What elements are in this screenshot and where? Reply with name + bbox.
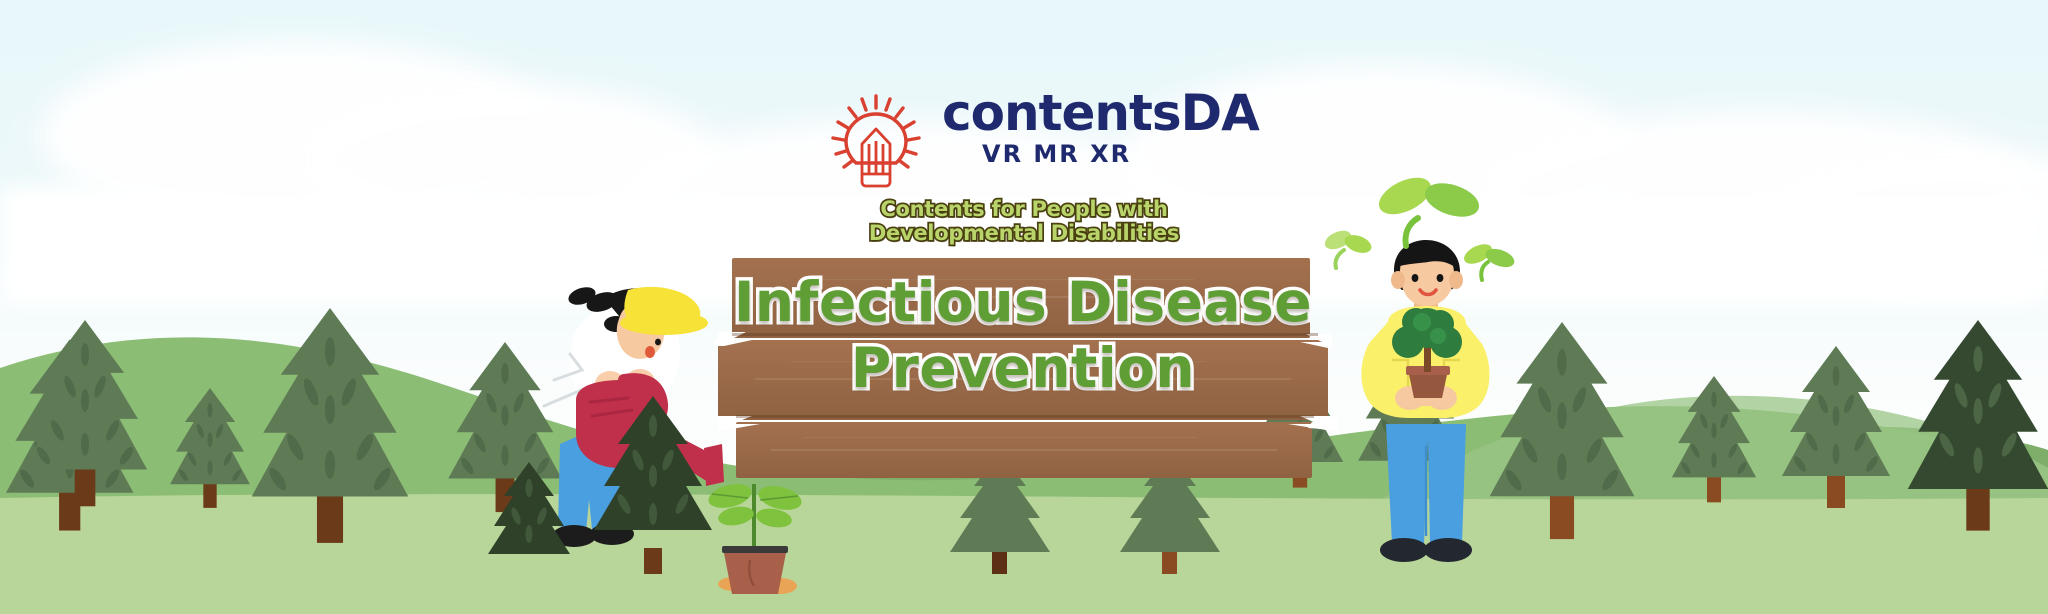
logo-tagline: VR MR XR (982, 140, 1131, 168)
lightbulb-pencil-icon (822, 88, 930, 194)
sign-title-line-2: Prevention (718, 340, 1328, 396)
sprout-large (1373, 170, 1483, 246)
subtitle-line-1: Contents for People with (0, 198, 2048, 222)
sprout-small-left (1322, 227, 1374, 268)
logo-wordmark: contentsDA (942, 84, 1259, 142)
sprout-small-right (1461, 240, 1517, 280)
banner-canvas: Infectious Disease Prevention Contents f… (0, 0, 2048, 614)
wooden-sign: Infectious Disease Prevention (718, 258, 1328, 478)
small-potted-plant (700, 478, 820, 614)
person-with-plant-character (1330, 238, 1520, 578)
subtitle-line-2: Developmental Disabilities (0, 222, 2048, 246)
banner-subtitle: Contents for People with Developmental D… (0, 198, 2048, 245)
sign-title-line-1: Infectious Disease (718, 274, 1328, 330)
floating-sprout-leaves (1300, 138, 1510, 284)
contentsda-logo[interactable]: contentsDA VR MR XR (822, 88, 1182, 198)
